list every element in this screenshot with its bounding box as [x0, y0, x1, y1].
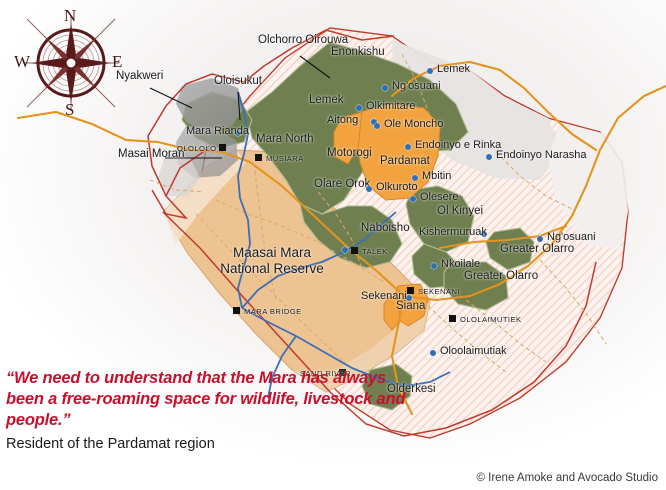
quote-attribution: Resident of the Pardamat region	[6, 437, 406, 453]
gate-marker-musiara[interactable]	[255, 154, 262, 161]
map-container: N S E W Nyakweri Oloisukut Olchorro Oiro…	[0, 0, 666, 490]
village-dot-sekenani[interactable]	[406, 295, 412, 301]
compass-north: N	[64, 6, 76, 26]
village-dot-endoinyo-e-rinka[interactable]	[405, 144, 411, 150]
village-dot-ole-moncho[interactable]	[374, 123, 380, 129]
village-dot-ngosuani-north[interactable]	[382, 85, 388, 91]
village-dot-lemek[interactable]	[427, 68, 433, 74]
compass-south: S	[65, 100, 74, 120]
compass-east: E	[112, 52, 122, 72]
village-dot-mara-rianda[interactable]	[235, 130, 241, 136]
gate-marker-mara-bridge[interactable]	[233, 307, 240, 314]
gate-marker-ololoolo[interactable]	[219, 144, 226, 151]
village-dot-olkimitare[interactable]	[356, 105, 362, 111]
village-dot-olesere[interactable]	[410, 196, 416, 202]
compass-west: W	[14, 52, 30, 72]
village-dot-oloolaimutiak[interactable]	[430, 350, 436, 356]
gate-marker-sekenani[interactable]	[407, 287, 414, 294]
gate-marker-ololaimutiek[interactable]	[449, 315, 456, 322]
credit-line: © Irene Amoke and Avocado Studio	[476, 472, 658, 484]
village-dot-talek[interactable]	[342, 247, 348, 253]
compass-rose: N S E W	[16, 8, 126, 118]
quote-text: “We need to understand that the Mara has…	[6, 368, 406, 431]
village-dot-endoinyo-narasha[interactable]	[486, 154, 492, 160]
village-dot-mbitin[interactable]	[412, 175, 418, 181]
village-dot-olkuroto[interactable]	[366, 186, 372, 192]
village-dot-kishermuruak[interactable]	[481, 231, 487, 237]
gate-marker-talek[interactable]	[351, 247, 358, 254]
village-dot-ngosuani-east[interactable]	[537, 236, 543, 242]
quote-block: “We need to understand that the Mara has…	[6, 368, 406, 453]
village-dot-nkoilale[interactable]	[431, 263, 437, 269]
